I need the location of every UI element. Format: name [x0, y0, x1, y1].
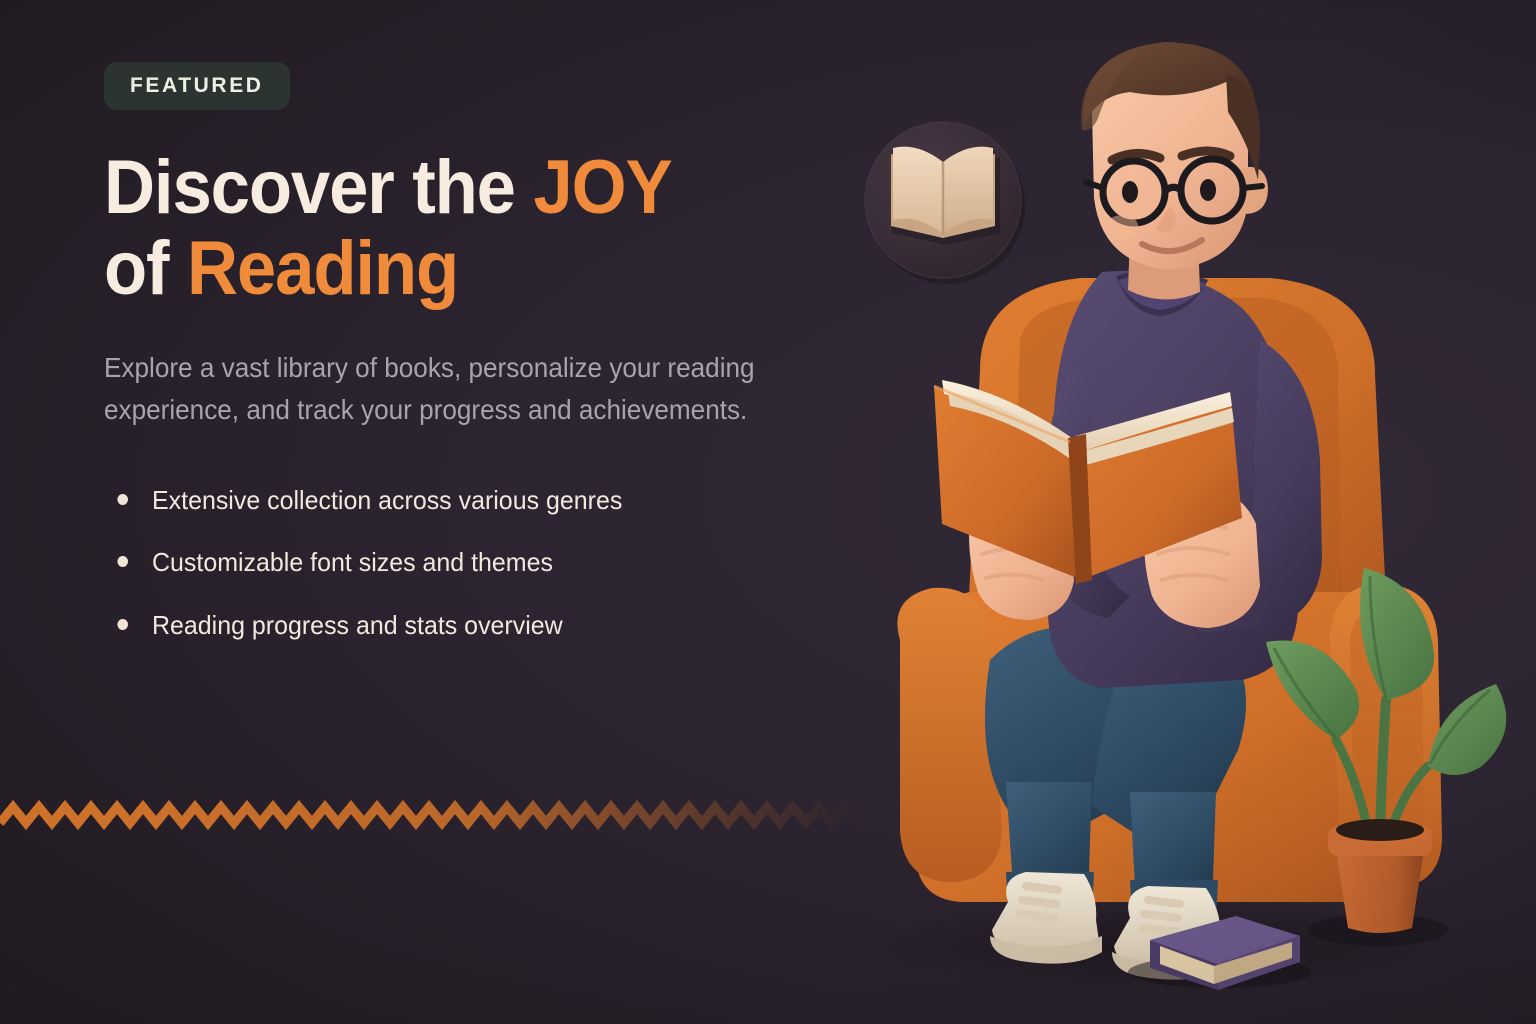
- reader-head: [1081, 42, 1268, 270]
- hero-subtitle: Explore a vast library of books, persona…: [104, 347, 798, 432]
- feature-label: Customizable font sizes and themes: [152, 547, 553, 577]
- bullet-dot-icon: [117, 494, 128, 505]
- zigzag-divider: [0, 793, 860, 841]
- headline-line-2-plain: of: [104, 226, 187, 311]
- person-reading-in-armchair: [830, 40, 1536, 1024]
- featured-badge: FEATURED: [104, 62, 290, 110]
- eye-right: [1200, 179, 1216, 201]
- leaf-right: [1428, 684, 1506, 775]
- feature-label: Extensive collection across various genr…: [152, 485, 622, 515]
- eye-left: [1122, 181, 1138, 203]
- eyebrow-right: [1182, 151, 1230, 156]
- hero-copy: FEATURED Discover the JOY of Reading Exp…: [104, 62, 864, 671]
- bullet-dot-icon: [117, 619, 128, 630]
- plant-pot: [1336, 850, 1424, 933]
- headline-line-1: Discover the JOY: [104, 148, 811, 229]
- headline-line-1-plain: Discover the: [104, 145, 533, 230]
- headline-line-1-accent: JOY: [533, 145, 671, 230]
- headline-line-2-accent: Reading: [187, 226, 458, 311]
- list-item: Extensive collection across various genr…: [104, 484, 834, 517]
- hero-banner: FEATURED Discover the JOY of Reading Exp…: [0, 0, 1536, 1024]
- bullet-dot-icon: [117, 556, 128, 567]
- page-title: Discover the JOY of Reading: [104, 148, 811, 309]
- list-item: Customizable font sizes and themes: [104, 546, 834, 579]
- list-item: Reading progress and stats overview: [104, 609, 834, 642]
- feature-label: Reading progress and stats overview: [152, 610, 563, 640]
- feature-list: Extensive collection across various genr…: [104, 484, 864, 642]
- headline-line-2: of Reading: [104, 229, 811, 310]
